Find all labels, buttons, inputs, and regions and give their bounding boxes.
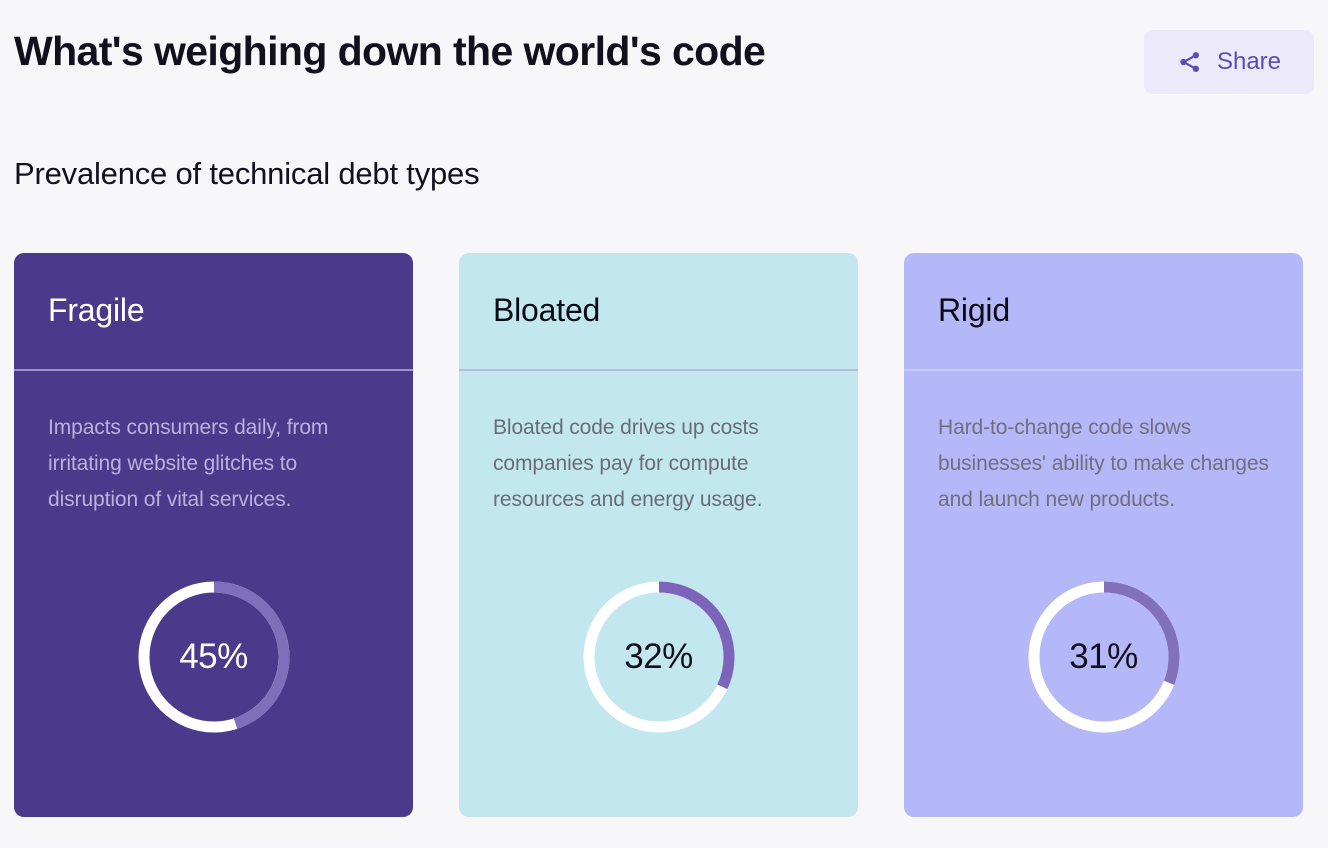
card-description: Impacts consumers daily, from irritating… (48, 410, 379, 518)
donut-percent-label: 31% (1025, 578, 1183, 736)
card-divider (904, 369, 1303, 371)
infographic-page: What's weighing down the world's code Sh… (0, 0, 1328, 848)
card-body: Impacts consumers daily, from irritating… (14, 369, 413, 518)
chart-subtitle: Prevalence of technical debt types (14, 156, 479, 192)
donut-chart: 45% (135, 578, 293, 736)
donut-percent-label: 45% (135, 578, 293, 736)
debt-type-card[interactable]: Fragile Impacts consumers daily, from ir… (14, 253, 413, 817)
card-header: Bloated (459, 253, 858, 369)
donut-chart-wrapper: 32% (459, 578, 858, 736)
card-description: Bloated code drives up costs companies p… (493, 410, 824, 518)
share-nodes-icon (1177, 49, 1203, 75)
share-button-label: Share (1217, 50, 1281, 74)
donut-percent-label: 32% (580, 578, 738, 736)
card-title: Rigid (938, 293, 1010, 328)
donut-chart-wrapper: 31% (904, 578, 1303, 736)
card-description: Hard-to-change code slows businesses' ab… (938, 410, 1269, 518)
donut-chart: 32% (580, 578, 738, 736)
debt-type-card[interactable]: Bloated Bloated code drives up costs com… (459, 253, 858, 817)
donut-chart-wrapper: 45% (14, 578, 413, 736)
card-body: Bloated code drives up costs companies p… (459, 369, 858, 518)
card-body: Hard-to-change code slows businesses' ab… (904, 369, 1303, 518)
debt-type-card[interactable]: Rigid Hard-to-change code slows business… (904, 253, 1303, 817)
card-divider (459, 369, 858, 371)
card-header: Rigid (904, 253, 1303, 369)
card-header: Fragile (14, 253, 413, 369)
page-header: What's weighing down the world's code Sh… (0, 0, 1328, 120)
card-divider (14, 369, 413, 371)
share-button[interactable]: Share (1144, 30, 1314, 94)
debt-type-card-list: Fragile Impacts consumers daily, from ir… (14, 253, 1314, 817)
card-title: Bloated (493, 293, 600, 328)
page-title: What's weighing down the world's code (14, 28, 765, 75)
donut-chart: 31% (1025, 578, 1183, 736)
card-title: Fragile (48, 293, 144, 328)
